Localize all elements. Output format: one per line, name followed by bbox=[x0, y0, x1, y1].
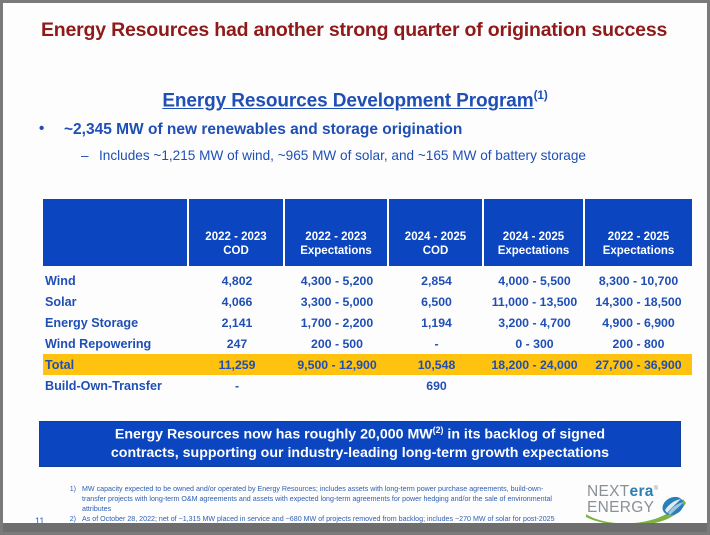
slide: Energy Resources had another strong quar… bbox=[0, 0, 710, 535]
callout-line2: contracts, supporting our industry-leadi… bbox=[111, 445, 609, 461]
table-header-2022-2025-expectations: 2022 - 2025 Expectations bbox=[585, 199, 692, 266]
header-line1: 2024 - 2025 bbox=[392, 230, 479, 244]
table-header-row: 2022 - 2023 COD 2022 - 2023 Expectations… bbox=[43, 199, 692, 266]
table-header-2024-2025-cod: 2024 - 2025 COD bbox=[389, 199, 484, 266]
table-row: Energy Storage 2,141 1,700 - 2,200 1,194… bbox=[43, 312, 692, 333]
development-program-table: 2022 - 2023 COD 2022 - 2023 Expectations… bbox=[43, 199, 672, 396]
cell-wind-2024-2025-expectations: 4,000 - 5,500 bbox=[484, 270, 585, 291]
cell-wind-repowering-2024-2025-cod: - bbox=[389, 333, 484, 354]
bullet-level2-text: Includes ~1,215 MW of wind, ~965 MW of s… bbox=[99, 147, 586, 165]
header-line2: COD bbox=[392, 244, 479, 258]
table-row-total: Total 11,259 9,500 - 12,900 10,548 18,20… bbox=[43, 354, 692, 375]
cell-wind-repowering-2024-2025-expectations: 0 - 300 bbox=[484, 333, 585, 354]
cell-solar-2024-2025-cod: 6,500 bbox=[389, 291, 484, 312]
cell-wind-2024-2025-cod: 2,854 bbox=[389, 270, 484, 291]
cell-solar-2022-2023-expectations: 3,300 - 5,000 bbox=[285, 291, 389, 312]
table-row: Solar 4,066 3,300 - 5,000 6,500 11,000 -… bbox=[43, 291, 692, 312]
header-line2: Expectations bbox=[288, 244, 384, 258]
row-label-wind: Wind bbox=[43, 270, 189, 291]
cell-total-2024-2025-expectations: 18,200 - 24,000 bbox=[484, 354, 585, 375]
logo-era-text: era bbox=[630, 483, 654, 500]
header-line1: 2022 - 2023 bbox=[288, 230, 384, 244]
cell-solar-2024-2025-expectations: 11,000 - 13,500 bbox=[484, 291, 585, 312]
cell-wind-repowering-2022-2025-expectations: 200 - 800 bbox=[585, 333, 692, 354]
cell-wind-repowering-2022-2023-expectations: 200 - 500 bbox=[285, 333, 389, 354]
nextera-energy-logo: NEXTera® ENERGY bbox=[585, 482, 689, 526]
table-header-corner bbox=[43, 199, 189, 266]
row-label-build-own-transfer: Build-Own-Transfer bbox=[43, 375, 189, 396]
backlog-callout-box: Energy Resources now has roughly 20,000 … bbox=[39, 421, 681, 467]
header-line2: Expectations bbox=[487, 244, 580, 258]
cell-wind-repowering-2022-2023-cod: 247 bbox=[189, 333, 285, 354]
cell-wind-2022-2023-cod: 4,802 bbox=[189, 270, 285, 291]
bullet-level1-text: ~2,345 MW of new renewables and storage … bbox=[64, 121, 462, 139]
logo-wordmark-energy: ENERGY bbox=[587, 499, 654, 517]
header-line1: 2022 - 2023 bbox=[192, 230, 280, 244]
cell-energy-storage-2024-2025-expectations: 3,200 - 4,700 bbox=[484, 312, 585, 333]
bullet-dot-icon: • bbox=[39, 121, 64, 138]
header-line2: Expectations bbox=[588, 244, 689, 258]
section-heading: Energy Resources Development Program(1) bbox=[3, 89, 707, 112]
cell-wind-2022-2023-expectations: 4,300 - 5,200 bbox=[285, 270, 389, 291]
bottom-strip bbox=[3, 523, 707, 532]
cell-energy-storage-2022-2023-cod: 2,141 bbox=[189, 312, 285, 333]
cell-total-2022-2025-expectations: 27,700 - 36,900 bbox=[585, 354, 692, 375]
table-header-2022-2023-cod: 2022 - 2023 COD bbox=[189, 199, 285, 266]
section-heading-text: Energy Resources Development Program bbox=[162, 90, 533, 111]
cell-total-2022-2023-expectations: 9,500 - 12,900 bbox=[285, 354, 389, 375]
section-heading-footnote-ref: (1) bbox=[534, 89, 548, 102]
cell-energy-storage-2022-2025-expectations: 4,900 - 6,900 bbox=[585, 312, 692, 333]
row-label-wind-repowering: Wind Repowering bbox=[43, 333, 189, 354]
callout-text: Energy Resources now has roughly 20,000 … bbox=[111, 425, 609, 463]
cell-bot-2024-2025-expectations bbox=[484, 375, 585, 396]
header-line2: COD bbox=[192, 244, 280, 258]
cell-solar-2022-2023-cod: 4,066 bbox=[189, 291, 285, 312]
table-header-2024-2025-expectations: 2024 - 2025 Expectations bbox=[484, 199, 585, 266]
cell-energy-storage-2022-2023-expectations: 1,700 - 2,200 bbox=[285, 312, 389, 333]
row-label-total: Total bbox=[43, 354, 189, 375]
logo-registered-icon: ® bbox=[654, 486, 659, 492]
table-row-build-own-transfer: Build-Own-Transfer - 690 bbox=[43, 375, 692, 396]
bullet-dash-icon: – bbox=[81, 147, 99, 165]
cell-wind-2022-2025-expectations: 8,300 - 10,700 bbox=[585, 270, 692, 291]
cell-solar-2022-2025-expectations: 14,300 - 18,500 bbox=[585, 291, 692, 312]
cell-energy-storage-2024-2025-cod: 1,194 bbox=[389, 312, 484, 333]
footnote-1-number: 1) bbox=[59, 484, 82, 494]
page-title: Energy Resources had another strong quar… bbox=[41, 18, 671, 43]
row-label-solar: Solar bbox=[43, 291, 189, 312]
footnote-1-text: MW capacity expected to be owned and/or … bbox=[82, 484, 564, 514]
table-row: Wind 4,802 4,300 - 5,200 2,854 4,000 - 5… bbox=[43, 270, 692, 291]
bullet-level2: – Includes ~1,215 MW of wind, ~965 MW of… bbox=[81, 147, 681, 165]
cell-bot-2022-2025-expectations bbox=[585, 375, 692, 396]
table-header-2022-2023-expectations: 2022 - 2023 Expectations bbox=[285, 199, 389, 266]
cell-bot-2024-2025-cod: 690 bbox=[389, 375, 484, 396]
callout-line1-post: in its backlog of signed bbox=[443, 427, 605, 443]
callout-footnote-ref: (2) bbox=[433, 425, 444, 437]
callout-line1-pre: Energy Resources now has roughly 20,000 … bbox=[115, 427, 433, 443]
bullet-level1: • ~2,345 MW of new renewables and storag… bbox=[39, 121, 689, 139]
header-line1: 2022 - 2025 bbox=[588, 230, 689, 244]
cell-bot-2022-2023-expectations bbox=[285, 375, 389, 396]
row-label-energy-storage: Energy Storage bbox=[43, 312, 189, 333]
slide-canvas: Energy Resources had another strong quar… bbox=[3, 3, 707, 532]
footnote-1: 1) MW capacity expected to be owned and/… bbox=[59, 484, 564, 514]
cell-total-2024-2025-cod: 10,548 bbox=[389, 354, 484, 375]
header-line1: 2024 - 2025 bbox=[487, 230, 580, 244]
cell-total-2022-2023-cod: 11,259 bbox=[189, 354, 285, 375]
logo-next-text: NEXT bbox=[587, 483, 630, 500]
table-row: Wind Repowering 247 200 - 500 - 0 - 300 … bbox=[43, 333, 692, 354]
cell-bot-2022-2023-cod: - bbox=[189, 375, 285, 396]
